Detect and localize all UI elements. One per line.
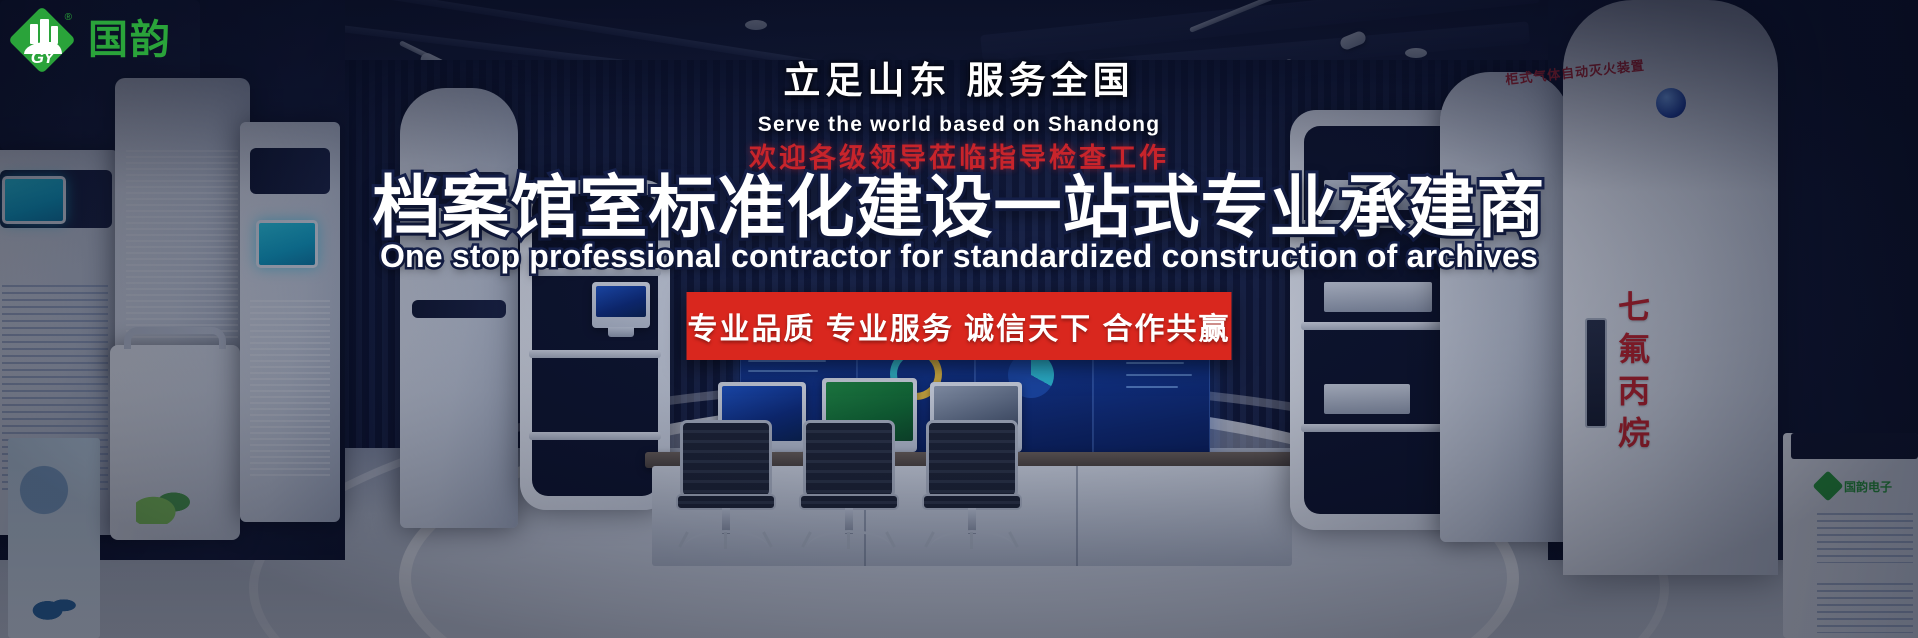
hero-banner: 柜式气体自动灭火装置 七氟丙烷 国韵电子 GY ®	[0, 0, 1918, 638]
hero-eyebrow-en: Serve the world based on Shandong	[0, 113, 1918, 137]
registered-trademark-icon: ®	[65, 12, 72, 23]
logo-building	[30, 24, 38, 44]
slogan-banner-text: 专业品质 专业服务 诚信天下 合作共赢	[687, 304, 1230, 348]
hero-headline-cn: 档案馆室标准化建设一站式专业承建商	[0, 152, 1918, 251]
hero-headline-en: One stop professional contractor for sta…	[0, 238, 1918, 275]
logo-building	[40, 19, 49, 44]
slogan-banner: 专业品质 专业服务 诚信天下 合作共赢	[687, 292, 1232, 360]
hero-text-overlay: GY ® 国韵 立足山东 服务全国 Serve the world based …	[0, 0, 1918, 638]
hero-eyebrow-cn: 立足山东 服务全国	[0, 50, 1918, 104]
